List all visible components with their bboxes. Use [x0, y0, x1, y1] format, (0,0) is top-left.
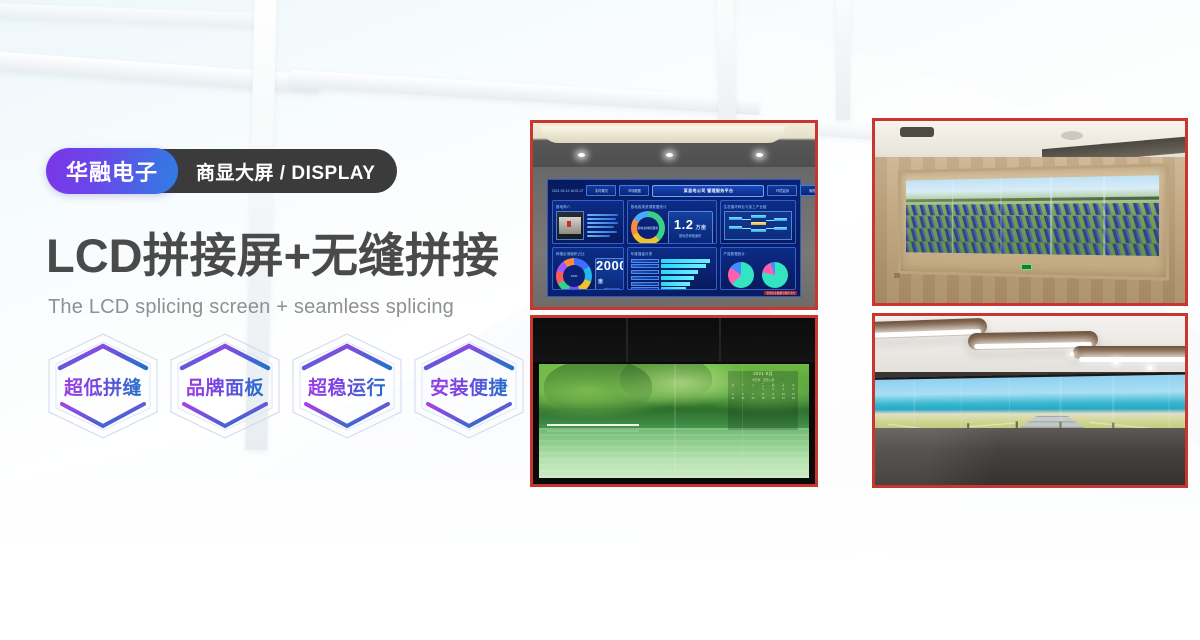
feature-badge-label: 超低拼缝 [64, 373, 142, 400]
willow-tree [620, 364, 712, 400]
feature-badge-label: 安装便捷 [430, 373, 508, 400]
dashboard-panel-industry-ring: 基地各类资源数据统计 基地总种植面积 1.2万亩 基地总种植面积 [627, 200, 717, 244]
dashboard-panel-pies: 产能数据统计 [720, 247, 796, 291]
solar-panel-field [906, 203, 1159, 256]
dashboard-header: 2021-09-13 16:01:27 实时概况 市场数据 某县电公司 管理服务… [552, 184, 796, 197]
bar-row [631, 276, 713, 280]
pie-chart-1 [762, 262, 788, 288]
ceiling [533, 123, 815, 167]
dashboard-watermark: 智慧农业数据可视化平台 [764, 291, 797, 295]
ceiling-speaker-icon [1061, 131, 1083, 140]
promo-banner: 华融电子 商显大屏 / DISPLAY LCD拼接屏+无缝拼接 The LCD … [0, 0, 1200, 640]
donut-chart: 2000 [556, 258, 592, 291]
headline-column: 华融电子 商显大屏 / DISPLAY LCD拼接屏+无缝拼接 The LCD … [46, 0, 516, 640]
feature-badge-0: 超低拼缝 [44, 330, 162, 442]
feature-badge-label: 品牌面板 [186, 373, 264, 400]
dashboard-panel-flow: 生态循环种业与加工产业链 [720, 200, 796, 244]
photo-control-room-dashboard: 2021-09-13 16:01:27 实时概况 市场数据 某县电公司 管理服务… [530, 120, 818, 310]
ceiling-cove [541, 126, 785, 143]
brand-pill-row: 华融电子 商显大屏 / DISPLAY [46, 148, 397, 194]
dashboard-panel-rank-bars: 年度播量分类 [627, 247, 717, 291]
panel-title: 生态循环种业与加工产业链 [724, 204, 792, 209]
calendar-subtitle: 辛丑年 · 农历八月 [728, 378, 798, 382]
metric-value: 2000亩 [596, 259, 624, 285]
donut-center-label: 基地总种植面积 [631, 226, 665, 230]
metric-card-1: 2000亩 种植总面积 [595, 258, 624, 291]
video-wall-frame [898, 163, 1169, 280]
calendar-grid: 日 一 二 三 四 五 六 1 2 3 4 5 [728, 384, 798, 401]
page-subtitle: The LCD splicing screen + seamless splic… [48, 296, 454, 319]
lobby-floor [875, 428, 1185, 485]
exit-sign-icon [1021, 264, 1032, 270]
panel-seam [1103, 176, 1105, 255]
video-wall-screen [906, 175, 1159, 256]
downlight-icon [1148, 366, 1152, 370]
downlight-icon [1114, 360, 1118, 364]
panel-seam [674, 364, 676, 478]
ceiling-vent-icon [900, 127, 934, 137]
photo-solar-farm-video-wall [872, 118, 1188, 306]
brand-pill: 华融电子 [46, 148, 178, 194]
metric-caption: 基地总种植面积 [679, 233, 701, 238]
horizon-line [906, 196, 1159, 202]
pie-chart-group [724, 258, 792, 291]
feature-badge-2: 超稳运行 [288, 330, 406, 442]
feature-badge-row: 超低拼缝 品牌面板 [44, 330, 528, 442]
calendar-title: 2021 9月 [728, 371, 798, 377]
video-wall-screen: 2021 9月 辛丑年 · 农历八月 日 一 二 三 四 五 六 1 [539, 364, 809, 478]
panel-title: 基地简介 [556, 204, 620, 209]
feature-badge-label: 超稳运行 [308, 373, 386, 400]
bezel-ghost-text: ····· [561, 334, 576, 340]
panel-seam [952, 179, 953, 252]
photo-beach-boardwalk-video-wall [872, 313, 1188, 488]
dashboard-tab-1[interactable]: 市场数据 [619, 185, 649, 196]
dashboard-timestamp: 2021-09-13 16:01:27 [552, 189, 583, 193]
donut-center-label: 2000 [556, 274, 592, 278]
metric-caption: 种植总面积 [603, 287, 619, 290]
dashboard-tab-2[interactable]: 环境监测 [767, 185, 797, 196]
downlight-icon [666, 153, 673, 157]
ceiling-coffer [1073, 346, 1188, 359]
panel-title: 基地各类资源数据统计 [631, 204, 713, 209]
dashboard-panel-grid: 基地简介 基地各类资源数据统计 [552, 200, 796, 290]
bar-row [631, 259, 713, 263]
downlight-icon [756, 153, 763, 157]
bezel-ghost-text: ····· [753, 334, 768, 340]
dashboard-tab-0[interactable]: 实时概况 [586, 185, 616, 196]
panel-text-lines [587, 211, 620, 240]
panel-title: 年度播量分类 [631, 251, 713, 256]
bezel-ghost-text: ····· [657, 334, 672, 340]
feature-badge-3: 安装便捷 [410, 330, 528, 442]
bar-chart [631, 258, 713, 291]
metric-card-0: 1.2万亩 基地总种植面积 [668, 211, 713, 244]
dashboard-screen: 2021-09-13 16:01:27 实时概况 市场数据 某县电公司 管理服务… [547, 179, 801, 297]
donut-chart: 基地总种植面积 [631, 211, 665, 244]
bg-beam-vertical-3 [836, 0, 850, 120]
dashboard-title: 某县电公司 管理服务平台 [652, 185, 764, 197]
bar-row [631, 270, 713, 274]
bar-row [631, 282, 713, 286]
panel-thumbnail [556, 211, 584, 240]
feature-badge-1: 品牌面板 [166, 330, 284, 442]
dashboard-panel-category-ring: 种植区域面积占比 2000 2000亩 种植总面积 [552, 247, 624, 291]
screen-bezel-top: ····· ····· ····· [533, 318, 815, 362]
panel-seam [742, 364, 744, 478]
dashboard-tab-3[interactable]: 管理系统 [800, 185, 818, 196]
panel-seam [1000, 178, 1001, 253]
bar-row [631, 264, 713, 268]
photo-garden-lake-video-wall: ····· ····· ····· 2021 9月 辛丑年 · 农历八月 日 一… [530, 315, 818, 487]
panel-title: 种植区域面积占比 [556, 251, 620, 256]
panel-title: 产能数据统计 [724, 251, 792, 256]
wall-outlet-icon [894, 273, 900, 278]
panel-seam [1051, 177, 1053, 254]
pie-chart-0 [728, 262, 754, 288]
flow-diagram [724, 211, 792, 240]
calendar-overlay: 2021 9月 辛丑年 · 农历八月 日 一 二 三 四 五 六 1 [728, 371, 798, 430]
dashboard-panel-intro: 基地简介 [552, 200, 624, 244]
page-title: LCD拼接屏+无缝拼接 [46, 228, 499, 283]
bar-row [631, 287, 713, 290]
metric-value: 1.2万亩 [674, 218, 707, 231]
